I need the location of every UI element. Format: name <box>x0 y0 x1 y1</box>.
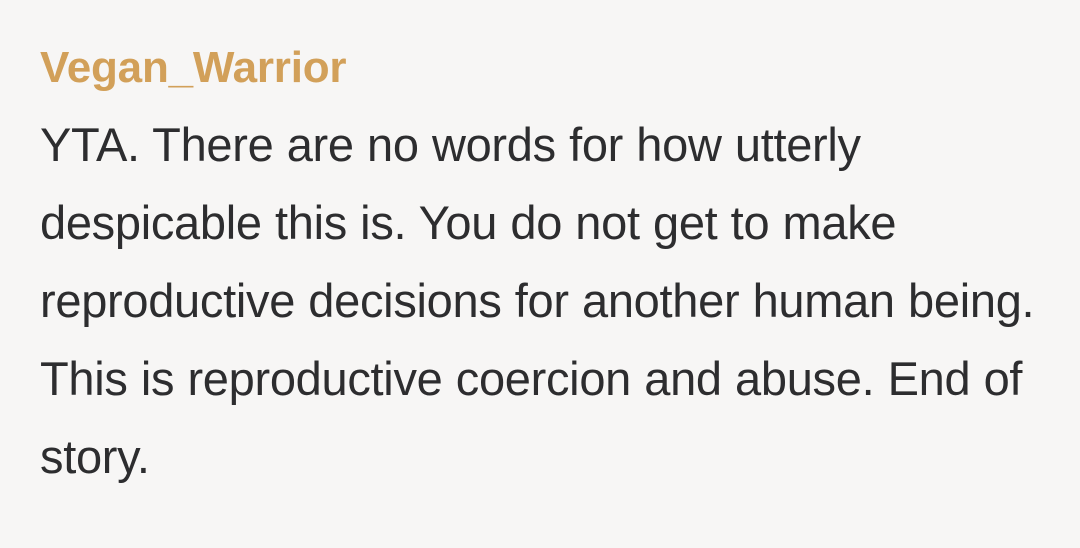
comment-author-username[interactable]: Vegan_Warrior <box>40 44 346 92</box>
comment-card: Vegan_Warrior YTA. There are no words fo… <box>0 0 1080 548</box>
comment-body-text: YTA. There are no words for how utterly … <box>40 106 1044 496</box>
